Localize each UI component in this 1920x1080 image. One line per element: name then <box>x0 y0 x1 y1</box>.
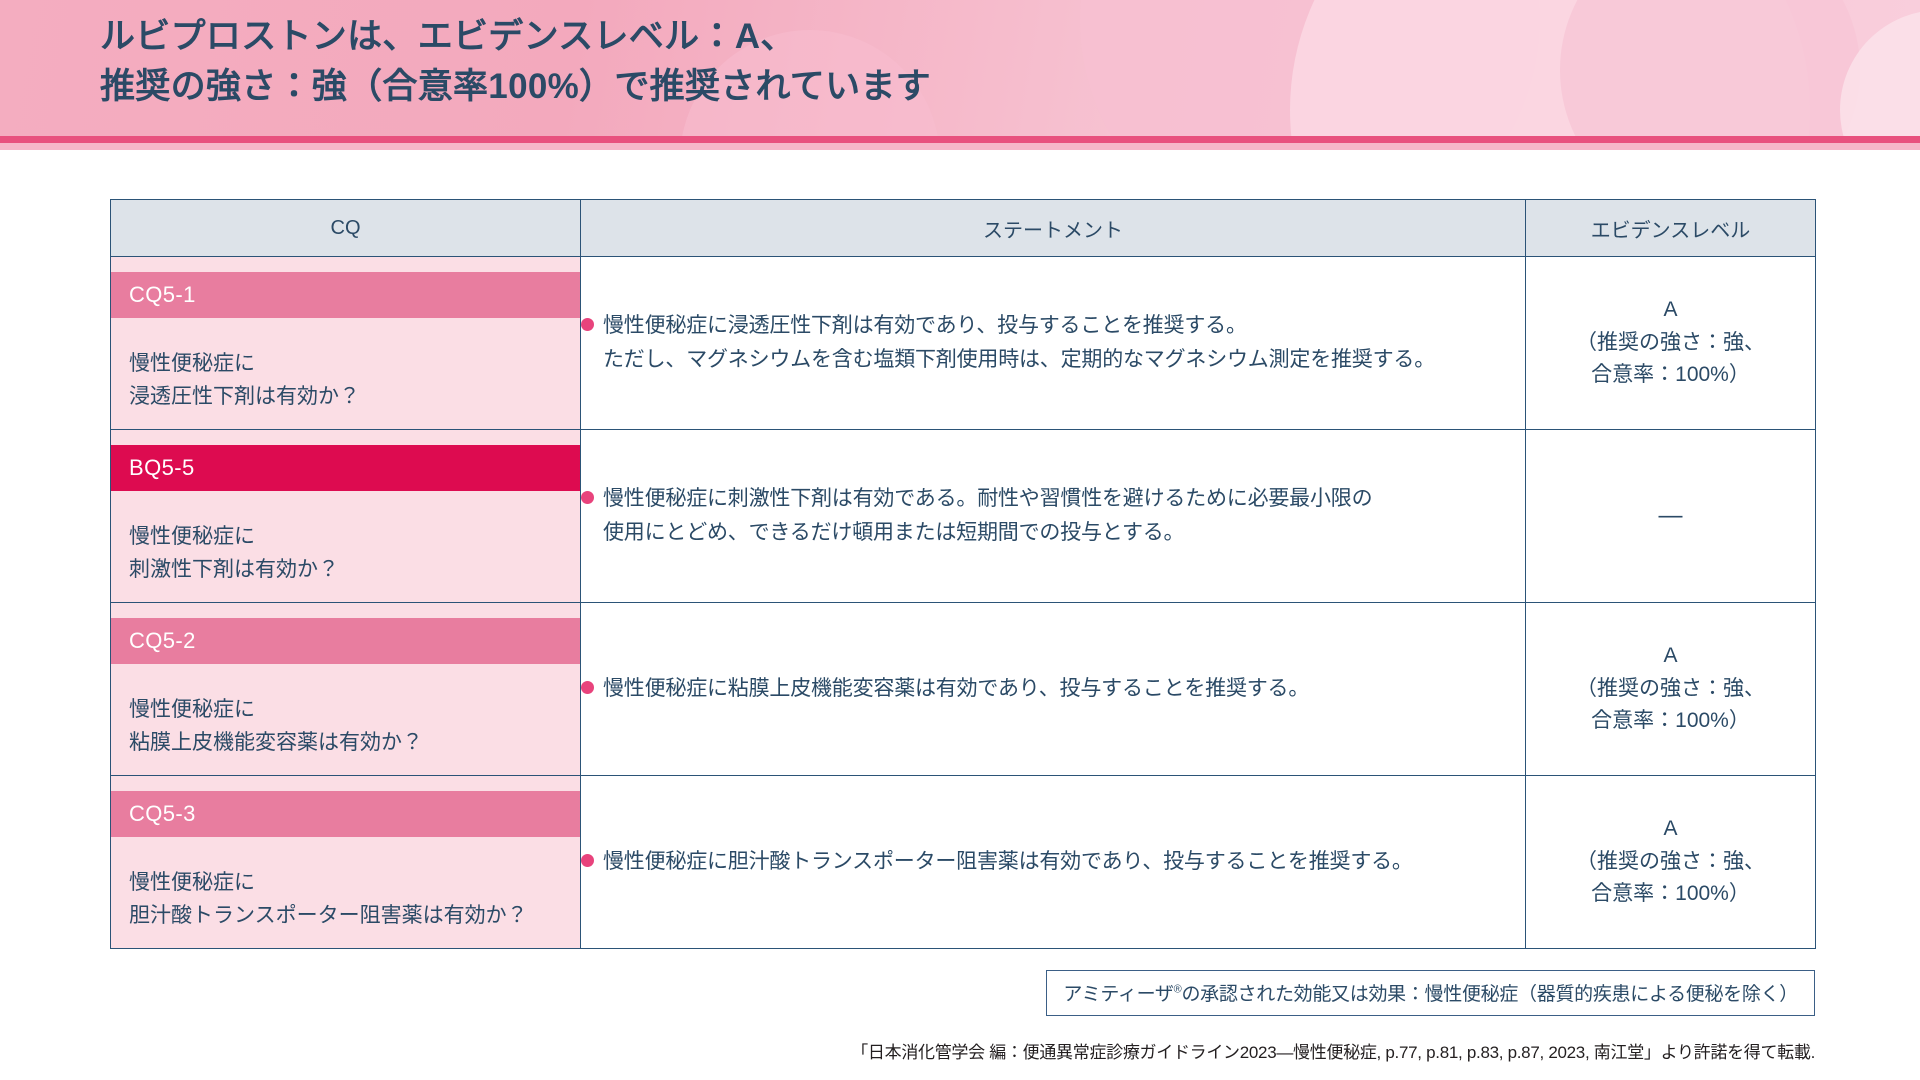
cq-statement-table: CQ ステートメント エビデンスレベル CQ5-1 慢性便秘症に 浸透圧性下剤は… <box>110 199 1816 949</box>
statement-text: 慢性便秘症に浸透圧性下剤は有効であり、投与することを推奨する。 ただし、マグネシ… <box>603 309 1435 377</box>
cq-question: 慢性便秘症に 粘膜上皮機能変容薬は有効か？ <box>111 664 580 759</box>
cq-cell: CQ5-3 慢性便秘症に 胆汁酸トランスポーター阻害薬は有効か？ <box>111 776 581 949</box>
statement-cell: 慢性便秘症に浸透圧性下剤は有効であり、投与することを推奨する。 ただし、マグネシ… <box>581 257 1526 430</box>
header-accent-bar-light <box>0 143 1920 150</box>
bullet-icon <box>581 681 594 694</box>
slide-header: ルビプロストンは、エビデンスレベル：A、 推奨の強さ：強（合意率100%）で推奨… <box>0 0 1920 150</box>
decorative-circle-3 <box>1560 0 1860 150</box>
table-header: CQ ステートメント エビデンスレベル <box>111 200 1816 257</box>
bullet-icon <box>581 491 594 504</box>
cq-question: 慢性便秘症に 胆汁酸トランスポーター阻害薬は有効か？ <box>111 837 580 932</box>
table-row: BQ5-5 慢性便秘症に 刺激性下剤は有効か？ 慢性便秘症に刺激性下剤は有効であ… <box>111 430 1816 603</box>
column-header-cq: CQ <box>111 200 581 257</box>
table-header-row: CQ ステートメント エビデンスレベル <box>111 200 1816 257</box>
evidence-level-cell: — <box>1526 430 1816 603</box>
table-row: CQ5-1 慢性便秘症に 浸透圧性下剤は有効か？ 慢性便秘症に浸透圧性下剤は有効… <box>111 257 1816 430</box>
decorative-circle-5 <box>1840 10 1920 150</box>
table-row: CQ5-3 慢性便秘症に 胆汁酸トランスポーター阻害薬は有効か？ 慢性便秘症に胆… <box>111 776 1816 949</box>
cq-badge: BQ5-5 <box>111 445 580 491</box>
statement-text: 慢性便秘症に胆汁酸トランスポーター阻害薬は有効であり、投与することを推奨する。 <box>603 845 1413 879</box>
cq-question: 慢性便秘症に 刺激性下剤は有効か？ <box>111 491 580 586</box>
cq-cell: CQ5-1 慢性便秘症に 浸透圧性下剤は有効か？ <box>111 257 581 430</box>
evidence-level-cell: A （推奨の強さ：強、 合意率：100%） <box>1526 257 1816 430</box>
cq-badge: CQ5-1 <box>111 272 580 318</box>
column-header-statement: ステートメント <box>581 200 1526 257</box>
slide-title: ルビプロストンは、エビデンスレベル：A、 推奨の強さ：強（合意率100%）で推奨… <box>100 12 1300 111</box>
cq-question: 慢性便秘症に 浸透圧性下剤は有効か？ <box>111 318 580 413</box>
indication-suffix: の承認された効能又は効果：慢性便秘症（器質的疾患による便秘を除く） <box>1181 984 1798 1005</box>
cq-cell: CQ5-2 慢性便秘症に 粘膜上皮機能変容薬は有効か？ <box>111 603 581 776</box>
table-body: CQ5-1 慢性便秘症に 浸透圧性下剤は有効か？ 慢性便秘症に浸透圧性下剤は有効… <box>111 257 1816 949</box>
statement-cell: 慢性便秘症に粘膜上皮機能変容薬は有効であり、投与することを推奨する。 <box>581 603 1526 776</box>
decorative-circle-2 <box>1290 0 1810 150</box>
bullet-icon <box>581 318 594 331</box>
statement-cell: 慢性便秘症に刺激性下剤は有効である。耐性や習慣性を避けるために必要最小限の 使用… <box>581 430 1526 603</box>
table-row: CQ5-2 慢性便秘症に 粘膜上皮機能変容薬は有効か？ 慢性便秘症に粘膜上皮機能… <box>111 603 1816 776</box>
statement-text: 慢性便秘症に粘膜上皮機能変容薬は有効であり、投与することを推奨する。 <box>603 672 1309 706</box>
evidence-level-cell: A （推奨の強さ：強、 合意率：100%） <box>1526 776 1816 949</box>
bullet-icon <box>581 854 594 867</box>
indication-note-box: アミティーザ®の承認された効能又は効果：慢性便秘症（器質的疾患による便秘を除く） <box>1046 970 1815 1016</box>
header-accent-bar <box>0 136 1920 143</box>
evidence-level-cell: A （推奨の強さ：強、 合意率：100%） <box>1526 603 1816 776</box>
statement-text: 慢性便秘症に刺激性下剤は有効である。耐性や習慣性を避けるために必要最小限の 使用… <box>603 482 1372 550</box>
statement-cell: 慢性便秘症に胆汁酸トランスポーター阻害薬は有効であり、投与することを推奨する。 <box>581 776 1526 949</box>
citation-text: 「日本消化管学会 編：便通異常症診療ガイドライン2023—慢性便秘症, p.77… <box>851 1038 1815 1063</box>
cq-cell: BQ5-5 慢性便秘症に 刺激性下剤は有効か？ <box>111 430 581 603</box>
cq-badge: CQ5-3 <box>111 791 580 837</box>
column-header-evidence-level: エビデンスレベル <box>1526 200 1816 257</box>
cq-badge: CQ5-2 <box>111 618 580 664</box>
indication-prefix: アミティーザ <box>1063 984 1173 1005</box>
